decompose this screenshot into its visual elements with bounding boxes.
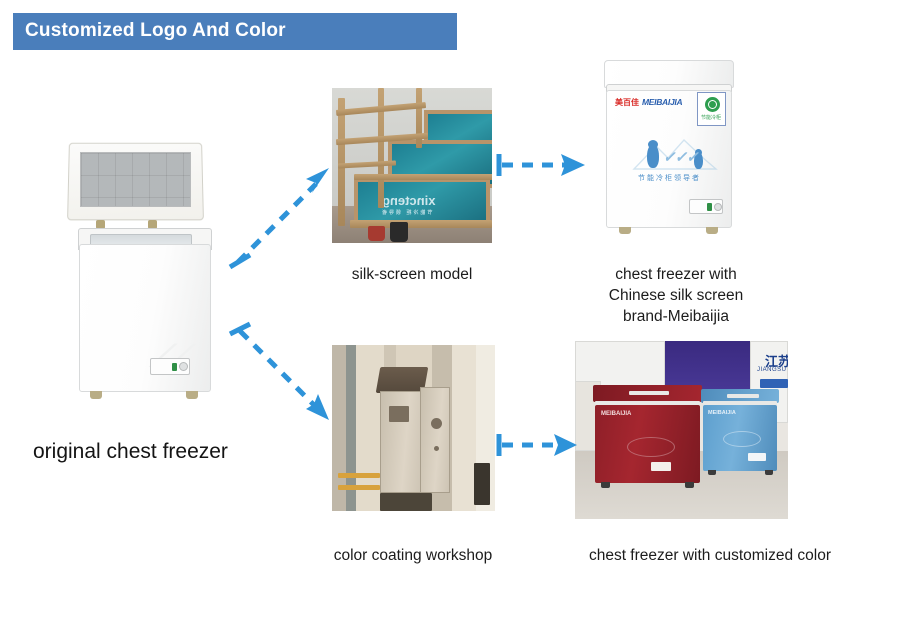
red-freezer-handle <box>629 391 669 395</box>
machine-control-wheel <box>431 418 442 429</box>
meibaijia-slogan: 节能冷柜领导者 <box>638 173 701 183</box>
meibaijia-control-panel <box>689 199 723 214</box>
arrow-silkscreen-to-meibaijia <box>497 150 589 180</box>
meibaijia-logo-en: MEIBAIJIA <box>642 97 682 107</box>
meibaijia-led-indicator <box>707 203 712 211</box>
image-original-chest-freezer: ⟋⟋ <box>62 140 222 402</box>
paint-bucket-black <box>390 222 408 242</box>
caption-color-coating-workshop: color coating workshop <box>300 546 526 567</box>
freezer-foot-left <box>90 391 102 399</box>
blue-freezer-foot-left <box>708 470 716 475</box>
caption-chest-freezer-meibaijia: chest freezer with Chinese silk screen b… <box>570 265 782 327</box>
energy-badge: 节能冷柜 <box>697 92 726 126</box>
silk-screen-frame-front: xincteng 节能冷柜 领导者 <box>354 178 490 226</box>
meibaijia-foot-left <box>619 227 631 234</box>
arrow-workshop-to-colors <box>497 430 585 460</box>
safety-rail-bottom <box>338 485 380 490</box>
freezer-led-indicator <box>172 363 177 371</box>
energy-badge-circle <box>705 97 720 112</box>
freezer-cabinet <box>79 244 211 392</box>
blue-freezer-panel <box>748 453 766 461</box>
red-freezer-logo: MEIBAIJIA <box>601 411 631 417</box>
freezer-control-panel <box>150 358 190 375</box>
safety-rail-top <box>338 473 380 478</box>
caption-silk-screen-model: silk-screen model <box>312 265 512 286</box>
red-freezer-panel <box>651 462 671 471</box>
workshop-dark-object <box>474 463 490 505</box>
meibaijia-thermostat-knob <box>714 203 722 211</box>
image-silk-screen-model: xincteng 节能冷柜 领导者 <box>332 88 492 243</box>
image-color-coating-workshop <box>332 345 495 511</box>
page-title: Customized Logo And Color <box>25 20 286 42</box>
caption-chest-freezer-customized-color: chest freezer with customized color <box>560 546 860 567</box>
machine-cabinet-left <box>380 391 422 493</box>
penguin-large-head <box>648 140 658 149</box>
energy-badge-ring <box>708 100 717 109</box>
silk-screen-subtext: 节能冷柜 领导者 <box>380 209 432 216</box>
freezer-lid-liner <box>80 152 191 207</box>
image-chest-freezer-meibaijia: 美百佳 MEIBAIJIA 节能冷柜 ✓✓✓ 节能冷柜领导者 <box>586 56 752 252</box>
workshop-stripe-7 <box>452 345 476 511</box>
paint-bucket-red <box>368 226 385 241</box>
red-freezer-body: MEIBAIJIA <box>595 405 700 483</box>
meibaijia-foot-right <box>706 227 718 234</box>
blue-freezer-body: MEIBAIJIA <box>703 405 777 471</box>
machine-base <box>380 493 432 511</box>
image-chest-freezer-customized-color: 江苏 JIANGSU MEIBAIJIA MEIBAIJIA <box>575 341 788 519</box>
caption-original-chest-freezer: original chest freezer <box>33 440 293 464</box>
machine-button <box>434 446 439 451</box>
penguin-script-flourish: ✓✓✓ <box>663 148 698 166</box>
rack-post-left <box>338 98 345 226</box>
showroom-sign-bar <box>760 379 788 388</box>
machine-vent <box>389 406 409 422</box>
red-freezer-graphic <box>627 437 675 457</box>
silk-screen-brand-text: xincteng <box>382 193 435 208</box>
blue-freezer-handle <box>727 394 759 398</box>
blue-freezer-logo: MEIBAIJIA <box>708 410 736 416</box>
arrow-original-to-workshop <box>228 322 338 430</box>
meibaijia-logo-cn: 美百佳 <box>615 97 639 108</box>
blue-freezer-foot-right <box>765 470 773 475</box>
red-freezer-foot-right <box>685 482 694 488</box>
header-banner: Customized Logo And Color <box>13 13 457 50</box>
frame-top-edge <box>354 174 492 180</box>
red-freezer-foot-left <box>601 482 610 488</box>
energy-badge-label: 节能冷柜 <box>701 114 721 121</box>
freezer-thermostat-knob <box>179 362 188 371</box>
arrow-original-to-silkscreen <box>228 160 338 272</box>
freezer-foot-right <box>186 391 198 399</box>
blue-freezer-graphic <box>723 431 761 447</box>
showroom-sign-en: JIANGSU <box>757 367 787 373</box>
machine-cabinet-right <box>420 387 450 493</box>
